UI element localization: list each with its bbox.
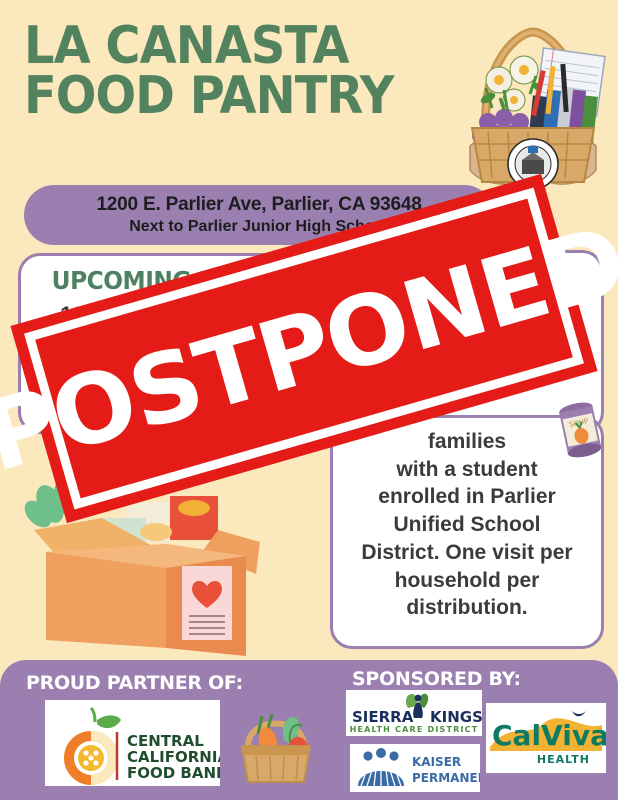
vegetable-basket-icon (228, 694, 324, 790)
central-california-food-bank-logo: CENTRAL CALIFORNIA FOOD BANK (45, 700, 220, 786)
kaiser-line-2: PERMANENTE (412, 771, 480, 785)
info-line-6: household per (333, 567, 601, 595)
title-line-1: LA CANASTA (24, 22, 420, 72)
calviva-line-2: HEALTH (537, 753, 590, 766)
sierra-line-3: HEALTH CARE DISTRICT (350, 725, 479, 734)
page-title: LA CANASTA FOOD PANTRY (24, 22, 454, 122)
info-line-5: District. One visit per (333, 539, 601, 567)
info-line-4: Unified School (333, 511, 601, 539)
kaiser-permanente-logo: KAISER PERMANENTE (350, 744, 480, 792)
title-line-2: FOOD PANTRY (24, 72, 420, 122)
calviva-line-1: CalViva (492, 719, 606, 752)
flyer-poster: LA CANASTA FOOD PANTRY (0, 0, 618, 800)
kaiser-line-1: KAISER (412, 755, 461, 769)
sierra-line-2: KINGS (430, 708, 482, 726)
calviva-health-logo: CalViva HEALTH (486, 703, 606, 773)
sierra-line-1: SIERRA (352, 708, 414, 726)
basket-with-produce-and-school-supplies-icon (452, 18, 614, 190)
address-line-1: 1200 E. Parlier Ave, Parlier, CA 93648 (96, 194, 421, 216)
cardboard-box-with-groceries-icon (6, 470, 306, 670)
soup-can-icon: SOUP (552, 396, 608, 462)
proud-partner-label: PROUD PARTNER OF: (26, 672, 243, 694)
sponsored-by-label: SPONSORED BY: (352, 668, 521, 690)
info-line-7: distribution. (333, 594, 601, 622)
info-line-3: enrolled in Parlier (333, 483, 601, 511)
ccfb-line-3: FOOD BANK (127, 764, 220, 782)
sierra-kings-health-care-district-logo: SIERRA KINGS HEALTH CARE DISTRICT (346, 690, 482, 736)
